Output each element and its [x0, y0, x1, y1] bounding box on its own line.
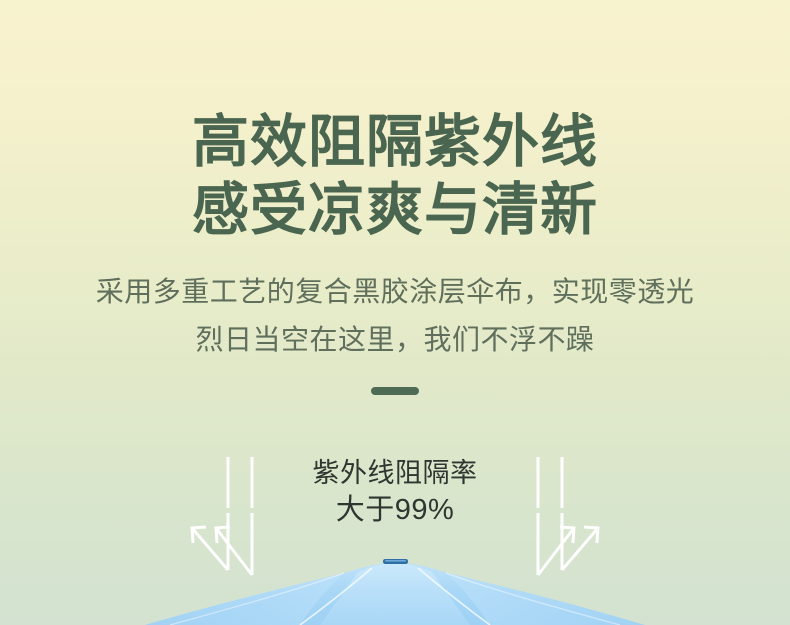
uv-umbrella-poster: 高效阻隔紫外线 感受凉爽与清新 采用多重工艺的复合黑胶涂层伞布，实现零透光 烈日… [0, 0, 790, 625]
headline-line-1: 高效阻隔紫外线 [0, 108, 790, 176]
uv-callout-label: 紫外线阻隔率 [0, 455, 790, 492]
headline-line-2: 感受凉爽与清新 [0, 176, 790, 244]
subtitle-line-1: 采用多重工艺的复合黑胶涂层伞布，实现零透光 [0, 274, 790, 310]
subtitle-line-2: 烈日当空在这里，我们不浮不躁 [0, 322, 790, 358]
uv-callout-value: 大于99% [0, 492, 790, 529]
divider-wrapper [0, 387, 790, 395]
poster-content: 高效阻隔紫外线 感受凉爽与清新 采用多重工艺的复合黑胶涂层伞布，实现零透光 烈日… [0, 0, 790, 625]
uv-blocking-callout: 紫外线阻隔率 大于99% [0, 455, 790, 529]
section-divider [371, 387, 419, 395]
